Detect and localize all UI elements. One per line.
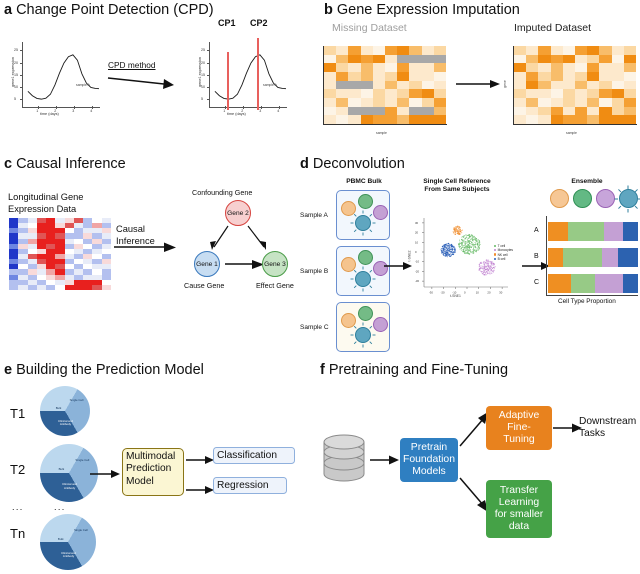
heatmap-cell	[575, 89, 587, 98]
heatmap-cell	[324, 81, 336, 90]
heatmap-cell	[409, 72, 421, 81]
heatmap-cell	[434, 115, 446, 124]
heatmap-cell	[324, 46, 336, 55]
heatmap-cell	[538, 63, 550, 72]
causal-graph: Confounding Gene Gene 2 Gene 1 Gene 3 Ca…	[180, 186, 304, 306]
sample-annotation: sample A	[263, 83, 277, 87]
pie-slice-label-0: Bulk	[52, 538, 69, 541]
heatmap-cell	[612, 115, 624, 124]
imputed-dataset-title: Imputed Dataset	[514, 22, 591, 34]
heatmap-cell	[563, 98, 575, 107]
heatmap-cell-missing	[422, 107, 434, 116]
regression-arrow-icon	[186, 484, 216, 496]
heatmap-cell	[336, 46, 348, 55]
cause-gene-caption: Cause Gene	[184, 281, 224, 290]
y-axis-line	[513, 46, 514, 124]
heatmap-cell	[563, 89, 575, 98]
tsne-y-tick-label: 10	[415, 240, 419, 244]
heatmap-cell	[526, 63, 538, 72]
pie-slice-label-1: Single Cell	[68, 399, 85, 402]
pie-slice-label-0: Bulk	[53, 468, 70, 471]
heatmap-cell	[551, 98, 563, 107]
heatmap-cell	[575, 46, 587, 55]
heatmap-cell	[526, 89, 538, 98]
tsne-x-axis-label: t-SNE1	[450, 294, 461, 298]
tsne-x-tick-label: -30	[429, 291, 433, 295]
heatmap-cell	[624, 55, 636, 64]
ensemble-cell-0	[550, 189, 569, 208]
heatmap-cell	[422, 81, 434, 90]
panel-a-title-text: Change Point Detection (CPD)	[16, 2, 213, 18]
heatmap-cell	[514, 89, 526, 98]
pie-chart-t1: BulkSingle CellClinical and Antibody	[40, 386, 90, 436]
pbmc-bulk-title: PBMC Bulk	[332, 178, 396, 186]
heatmap-cell	[422, 63, 434, 72]
heatmap-cell	[55, 285, 64, 290]
heatmap-cell	[575, 72, 587, 81]
tsne-plot: -30-20-100102030-30-20-100102030 t-SNE1 …	[410, 216, 520, 301]
x-axis-label: sample	[376, 131, 387, 135]
heatmap-cell-missing	[348, 107, 360, 116]
x-tick-label: 1	[36, 109, 38, 113]
heatmap-cell	[65, 285, 74, 290]
heatmap-cell	[373, 115, 385, 124]
heatmap-cell	[587, 107, 599, 116]
cell-spikes-icon	[350, 266, 376, 292]
heatmap-cell	[612, 81, 624, 90]
bar-x-axis-line	[546, 295, 638, 296]
heatmap-cell	[324, 89, 336, 98]
heatmap-cell	[514, 81, 526, 90]
heatmap-cell	[612, 98, 624, 107]
classification-output-box[interactable]: Classification	[213, 447, 295, 464]
timepoint-ellipsis-left: ...	[12, 502, 24, 512]
heatmap-cell	[563, 72, 575, 81]
legend-label-1: Monocytes	[498, 248, 513, 252]
heatmap-cell	[526, 107, 538, 116]
pie-slice-label-1: Single Cell	[72, 459, 92, 462]
heatmap-cell	[422, 89, 434, 98]
heatmap-cell	[348, 63, 360, 72]
heatmap-cell	[361, 98, 373, 107]
heatmap-cell	[551, 115, 563, 124]
change-point-1-marker	[227, 52, 229, 110]
arrow-label: CPD method	[108, 60, 156, 70]
x-tick-label: 4	[90, 109, 92, 113]
y-tick-label: 20	[201, 61, 205, 65]
heatmap-cell	[373, 98, 385, 107]
y-tick	[20, 50, 23, 51]
heatmap-cell	[434, 46, 446, 55]
change-point-2-marker	[257, 38, 259, 110]
heatmap-cell	[37, 285, 46, 290]
tsne-x-tick-label: 20	[487, 291, 491, 295]
heatmap-cell	[575, 55, 587, 64]
heatmap-cell	[551, 89, 563, 98]
y-tick	[207, 99, 210, 100]
heatmap-cell	[514, 63, 526, 72]
heatmap-cell	[409, 98, 421, 107]
change-point-2-label: CP2	[250, 18, 268, 28]
heatmap-cell	[612, 55, 624, 64]
node-gene-1-label: Gene 1	[196, 261, 218, 268]
panel-c-title: cCausal Inference	[4, 156, 304, 172]
heatmap-cell	[373, 55, 385, 64]
heatmap-cell-missing	[422, 55, 434, 64]
heatmap-cell	[587, 115, 599, 124]
heatmap-cell-missing	[397, 55, 409, 64]
panel-a-title: aChange Point Detection (CPD)	[4, 2, 320, 18]
panel-a-letter: a	[4, 2, 12, 18]
heatmap-cell	[397, 63, 409, 72]
panel-c-title-text: Causal Inference	[16, 156, 126, 172]
bar-segment-b-cell	[618, 248, 638, 267]
heatmap-cell	[624, 46, 636, 55]
panel-c-causal-inference: cCausal Inference Longitudinal Gene Expr…	[4, 156, 304, 356]
timepoint-label-t2: T2	[10, 462, 25, 477]
sample-box-a	[336, 190, 390, 240]
heatmap-cell	[434, 72, 446, 81]
single-cell-reference-title: Single Cell Reference From Same Subjects	[412, 178, 502, 194]
heatmap-cell	[385, 115, 397, 124]
bar-segment-t-cell	[563, 248, 602, 267]
heatmap-cell	[102, 285, 111, 290]
heatmap-cell	[348, 72, 360, 81]
heatmap-cell	[28, 285, 37, 290]
downstream-tasks-label: Downstream Tasks	[579, 416, 639, 440]
heatmap-cell	[348, 98, 360, 107]
heatmap-cell	[587, 98, 599, 107]
bar-y-axis-line	[546, 216, 547, 296]
multimodal-prediction-model-box[interactable]: Multimodal Prediction Model	[122, 448, 184, 496]
heatmap-cell	[551, 46, 563, 55]
heatmap-cell	[385, 55, 397, 64]
cell-type-proportion-chart: ABC Cell Type Proportion	[546, 216, 640, 306]
y-tick	[207, 87, 210, 88]
heatmap-cell	[538, 46, 550, 55]
imputed-heatmap	[514, 46, 636, 124]
heatmap-cell	[587, 89, 599, 98]
heatmap-cell	[397, 81, 409, 90]
heatmap-cell-missing	[409, 55, 421, 64]
arrow-icon	[108, 72, 178, 88]
heatmap-cell	[324, 107, 336, 116]
heatmap-cell	[624, 63, 636, 72]
panel-a-change-point-detection: aChange Point Detection (CPD) time (days…	[4, 2, 320, 148]
heatmap-cell	[434, 107, 446, 116]
panel-c-letter: c	[4, 156, 12, 172]
bar-segment-nk-cell	[548, 222, 568, 241]
pretrain-foundation-models-box[interactable]: Pretrain Foundation Models	[400, 438, 458, 482]
bar-segment-t-cell	[571, 274, 595, 293]
heatmap-cell	[336, 89, 348, 98]
heatmap-cell	[624, 107, 636, 116]
heatmap-cell	[409, 89, 421, 98]
heatmap-cell	[373, 63, 385, 72]
heatmap-cell	[526, 81, 538, 90]
x-axis-line	[323, 124, 447, 125]
heatmap-cell	[563, 81, 575, 90]
heatmap-cell	[575, 107, 587, 116]
heatmap-cell	[397, 46, 409, 55]
missing-heatmap	[324, 46, 446, 124]
node-gene-3-label: Gene 3	[264, 261, 286, 268]
heatmap-cell-missing	[409, 107, 421, 116]
bar-segment-monocytes	[604, 222, 623, 241]
x-tick-label: 3	[72, 109, 74, 113]
heatmap-cell	[612, 63, 624, 72]
heatmap-cell	[385, 72, 397, 81]
missing-heatmap-wrap: sample	[324, 46, 446, 124]
classification-arrow-icon	[186, 454, 216, 466]
heatmap-cell	[612, 72, 624, 81]
heatmap-cell	[587, 81, 599, 90]
heatmap-cell	[409, 63, 421, 72]
heatmap-cell	[422, 72, 434, 81]
arrow-label: Causal Inference	[116, 224, 174, 247]
heatmap-cell	[434, 89, 446, 98]
y-tick-label: 20	[14, 61, 18, 65]
cell-icon-1	[358, 250, 373, 265]
y-axis-line	[323, 46, 324, 124]
heatmap-cell	[336, 107, 348, 116]
bar-segment-b-cell	[623, 222, 638, 241]
heatmap-cell	[538, 115, 550, 124]
longitudinal-expression-heatmap	[9, 218, 111, 290]
sample-label-a: Sample A	[300, 212, 328, 219]
heatmap-cell	[587, 55, 599, 64]
tsne-cluster-b-cell	[440, 243, 455, 257]
heatmap-cell	[385, 46, 397, 55]
y-axis-label: gene	[503, 80, 507, 88]
heatmap-cell	[434, 81, 446, 90]
heatmap-cell	[348, 55, 360, 64]
pie-slice-label-1: Single Cell	[71, 529, 90, 532]
sample-box-c	[336, 302, 390, 352]
heatmap-cell	[538, 89, 550, 98]
heatmap-cell	[83, 285, 92, 290]
y-tick-label: 25	[201, 48, 205, 52]
heatmap-cell	[361, 89, 373, 98]
tsne-x-tick-label: -20	[441, 291, 445, 295]
node-gene-1: Gene 1	[194, 251, 220, 277]
heatmap-cell	[538, 81, 550, 90]
x-tick-label: 2	[54, 109, 56, 113]
imputation-arrow-icon	[456, 78, 504, 92]
heatmap-cell	[538, 98, 550, 107]
heatmap-cell	[397, 107, 409, 116]
heatmap-cell	[361, 115, 373, 124]
heatmap-cell	[526, 46, 538, 55]
model-input-arrow-icon	[90, 468, 122, 480]
pretrain-arrow-icon	[370, 454, 400, 466]
cell-icon-1	[358, 194, 373, 209]
heatmap-cell	[397, 98, 409, 107]
panel-e-prediction-model: eBuilding the Prediction Model T1 T2 ...…	[4, 362, 314, 572]
x-axis-line	[513, 124, 637, 125]
heatmap-cell	[526, 72, 538, 81]
sample-box-b	[336, 246, 390, 296]
x-tick-label: 3	[259, 109, 261, 113]
heatmap-cell	[348, 89, 360, 98]
heatmap-cell	[422, 46, 434, 55]
imputed-heatmap-wrap: sample gene	[514, 46, 636, 124]
heatmap-cell	[563, 115, 575, 124]
heatmap-cell	[575, 63, 587, 72]
heatmap-cell	[612, 89, 624, 98]
heatmap-cell	[575, 115, 587, 124]
heatmap-cell	[514, 115, 526, 124]
heatmap-cell	[397, 89, 409, 98]
heatmap-cell	[324, 98, 336, 107]
y-tick	[20, 87, 23, 88]
table-row	[548, 274, 638, 293]
adaptive-fine-tuning-box[interactable]: Adaptive Fine- Tuning	[486, 406, 552, 450]
heatmap-cell	[624, 89, 636, 98]
pie-slice-label-2: Clinical and Antibody	[56, 420, 75, 427]
heatmap-cell-missing	[361, 107, 373, 116]
heatmap-cell	[599, 63, 611, 72]
heatmap-cell-missing	[336, 81, 348, 90]
heatmap-cell	[563, 63, 575, 72]
timepoint-label-t1: T1	[10, 406, 25, 421]
heatmap-cell-missing	[434, 55, 446, 64]
y-tick-label: 5	[201, 97, 203, 101]
heatmap-cell	[514, 46, 526, 55]
y-tick-label: 10	[201, 85, 205, 89]
heatmap-cell	[422, 98, 434, 107]
heatmap-cell	[514, 107, 526, 116]
heatmap-cell	[336, 115, 348, 124]
heatmap-cell	[599, 107, 611, 116]
pie-ellipsis: ...	[54, 502, 66, 512]
regression-output-box[interactable]: Regression	[213, 477, 287, 494]
heatmap-cell	[575, 81, 587, 90]
heatmap-cell	[538, 72, 550, 81]
y-tick-label: 10	[14, 85, 18, 89]
heatmap-cell	[409, 46, 421, 55]
heatmap-cell	[563, 46, 575, 55]
effect-gene-caption: Effect Gene	[256, 281, 294, 290]
legend-label-0: T cell	[498, 244, 506, 248]
pie-chart-tn: BulkSingle CellClinical and Antibody	[40, 514, 96, 570]
heatmap-cell	[434, 98, 446, 107]
heatmap-cell	[575, 98, 587, 107]
heatmap-cell	[551, 63, 563, 72]
bar-row-label-b: B	[534, 253, 539, 260]
causal-inference-arrow: Causal Inference	[114, 240, 178, 254]
heatmap-cell	[348, 115, 360, 124]
legend-label-3: B cell	[498, 257, 506, 261]
y-tick	[207, 75, 210, 76]
bar-segment-nk-cell	[548, 248, 563, 267]
x-tick-label: 2	[241, 109, 243, 113]
panel-d-letter: d	[300, 156, 309, 172]
x-axis-label: sample	[566, 131, 577, 135]
heatmap-cell	[361, 63, 373, 72]
ensemble-cell-spikes-icon	[614, 185, 640, 213]
heatmap-cell	[409, 115, 421, 124]
pie-slice-label-2: Clinical and Antibody	[59, 483, 81, 490]
heatmap-cell	[434, 63, 446, 72]
heatmap-cell	[599, 55, 611, 64]
panel-f-pretraining-finetuning: fPretraining and Fine-Tuning Pretrain Fo…	[320, 362, 640, 572]
tsne-y-tick-label: -20	[415, 269, 419, 273]
panel-b-letter: b	[324, 2, 333, 18]
y-tick	[20, 99, 23, 100]
sample-annotation: sample A	[76, 83, 90, 87]
missing-dataset-title: Missing Dataset	[332, 22, 407, 34]
legend-label-2: NK cell	[498, 253, 508, 257]
heatmap-cell	[551, 72, 563, 81]
heatmap-cell	[373, 81, 385, 90]
expression-curve	[209, 42, 287, 108]
longitudinal-data-label: Longitudinal Gene Expression Data	[8, 192, 128, 215]
heatmap-cell	[385, 63, 397, 72]
sample-label-c: Sample C	[300, 324, 329, 331]
heatmap-cell	[336, 72, 348, 81]
y-tick-label: 15	[14, 73, 18, 77]
y-tick	[20, 63, 23, 64]
cell-spikes-icon	[350, 210, 376, 236]
heatmap-cell	[538, 107, 550, 116]
transfer-learning-box[interactable]: Transfer Learning for smaller data	[486, 480, 552, 538]
tsne-cluster-t-cell	[458, 234, 481, 255]
heatmap-cell	[361, 55, 373, 64]
change-point-1-label: CP1	[218, 18, 236, 28]
heatmap-cell	[385, 89, 397, 98]
heatmap-cell	[514, 55, 526, 64]
heatmap-cell	[599, 98, 611, 107]
heatmap-cell	[397, 115, 409, 124]
heatmap-cell	[324, 72, 336, 81]
sample-label-b: Sample B	[300, 268, 328, 275]
heatmap-cell	[336, 63, 348, 72]
tsne-x-tick-label: 0	[464, 291, 466, 295]
heatmap-cell	[373, 72, 385, 81]
panel-d-title: dDeconvolution	[300, 156, 640, 172]
panel-b-gene-expression-imputation: bGene Expression Imputation Missing Data…	[324, 2, 638, 148]
table-row	[548, 222, 638, 241]
y-tick	[207, 50, 210, 51]
heatmap-cell	[336, 55, 348, 64]
heatmap-cell	[385, 81, 397, 90]
heatmap-cell	[624, 81, 636, 90]
panel-f-letter: f	[320, 362, 325, 378]
heatmap-cell	[92, 285, 101, 290]
table-row	[548, 248, 638, 267]
bar-x-axis-label: Cell Type Proportion	[558, 298, 616, 305]
heatmap-cell	[551, 81, 563, 90]
heatmap-cell	[46, 285, 55, 290]
heatmap-cell	[624, 72, 636, 81]
bar-row-label-c: C	[534, 279, 539, 286]
heatmap-cell	[324, 115, 336, 124]
heatmap-cell	[612, 46, 624, 55]
cpd-output-plot: CP1 CP2 time (days) gene1 expression sam…	[209, 42, 287, 108]
y-tick-label: 15	[201, 73, 205, 77]
heatmap-cell	[385, 107, 397, 116]
heatmap-cell	[526, 55, 538, 64]
node-gene-3: Gene 3	[262, 251, 288, 277]
panel-e-letter: e	[4, 362, 12, 378]
bar-row-label-a: A	[534, 227, 539, 234]
heatmap-cell	[526, 98, 538, 107]
bar-segment-monocytes	[602, 248, 618, 267]
x-tick-label: 1	[223, 109, 225, 113]
heatmap-cell	[18, 285, 27, 290]
tsne-y-tick-label: -30	[415, 279, 419, 283]
